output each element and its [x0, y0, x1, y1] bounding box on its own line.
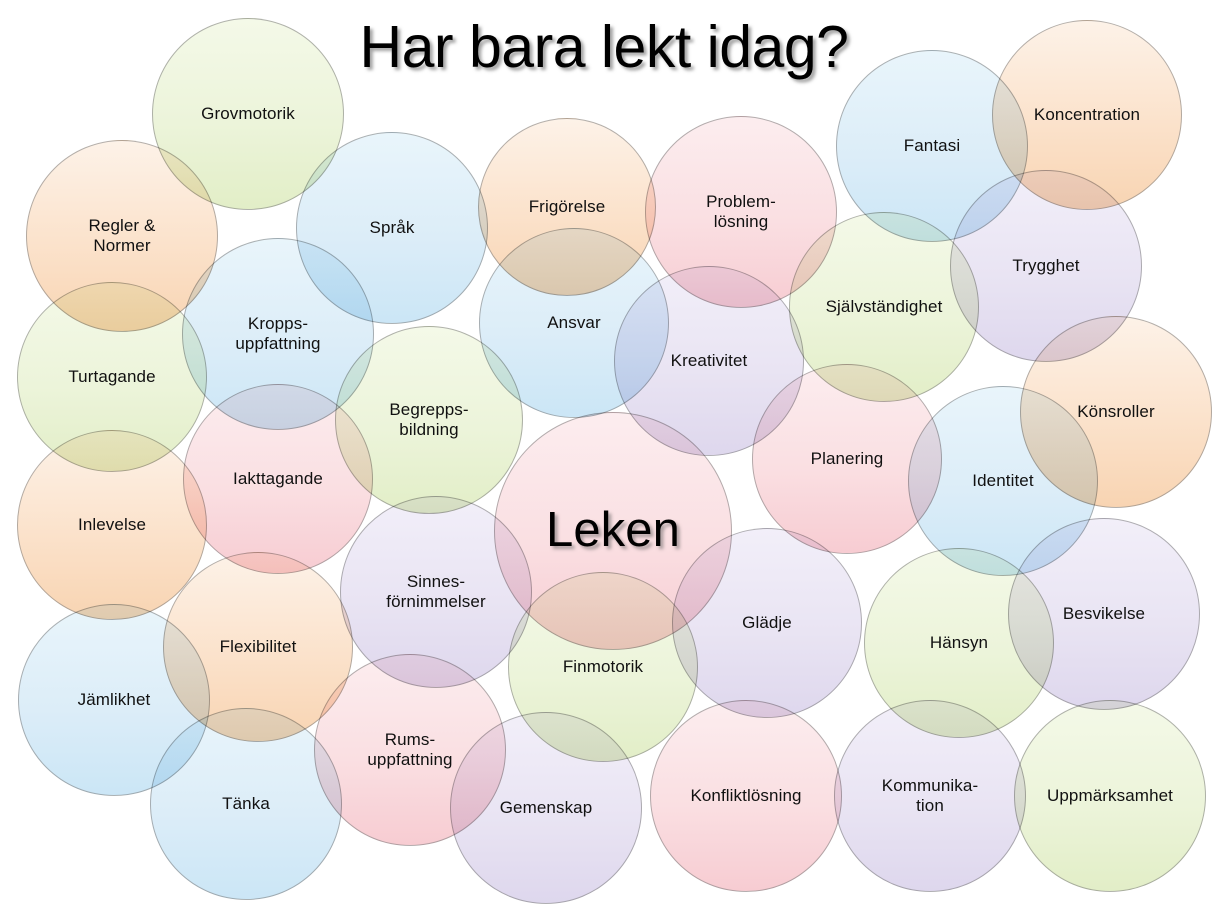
bubble-label: Inlevelse — [70, 515, 154, 535]
bubble-label: Könsroller — [1069, 402, 1163, 422]
bubble-label: Trygghet — [1004, 256, 1087, 276]
bubble-inlevelse[interactable]: Inlevelse — [17, 430, 207, 620]
bubble-label: Planering — [803, 449, 892, 469]
bubble-label: Leken — [538, 502, 688, 560]
bubble-label: Begrepps- bildning — [381, 400, 476, 440]
bubble-label: Rums- uppfattning — [359, 730, 460, 770]
bubble-label: Uppmärksamhet — [1039, 786, 1181, 806]
bubble-besvikelse[interactable]: Besvikelse — [1008, 518, 1200, 710]
bubble-label: Kropps- uppfattning — [227, 314, 328, 354]
bubble-label: Besvikelse — [1055, 604, 1153, 624]
bubble-label: Hänsyn — [922, 633, 996, 653]
bubble-label: Gemenskap — [492, 798, 601, 818]
bubble-kommunika-tion[interactable]: Kommunika- tion — [834, 700, 1026, 892]
bubble-label: Turtagande — [60, 367, 163, 387]
bubble-label: Språk — [362, 218, 423, 238]
center-bubble-leken[interactable]: Leken — [494, 412, 732, 650]
bubble-label: Fantasi — [896, 136, 968, 156]
bubble-label: Ansvar — [539, 313, 609, 333]
bubble-label: Sinnes- förnimmelser — [378, 572, 493, 612]
bubble-label: Grovmotorik — [193, 104, 303, 124]
bubble-label: Iakttagande — [225, 469, 331, 489]
bubble-label: Problem- lösning — [698, 192, 784, 232]
bubble-label: Tänka — [214, 794, 278, 814]
bubble-label: Koncentration — [1026, 105, 1148, 125]
bubble-label: Finmotorik — [555, 657, 651, 677]
bubble-konfliktlosning[interactable]: Konfliktlösning — [650, 700, 842, 892]
bubble-label: Regler & Normer — [81, 216, 164, 256]
bubble-label: Glädje — [734, 613, 800, 633]
bubble-uppmarksamhet[interactable]: Uppmärksamhet — [1014, 700, 1206, 892]
page-title-text: Har bara lekt idag? — [359, 18, 848, 77]
bubble-label: Frigörelse — [521, 197, 614, 217]
bubble-label: Kommunika- tion — [874, 776, 986, 816]
bubble-label: Kreativitet — [663, 351, 756, 371]
bubble-label: Konfliktlösning — [682, 786, 809, 806]
slide-canvas: GrovmotorikRegler & NormerSpråkFrigörels… — [0, 0, 1228, 914]
bubble-label: Identitet — [964, 471, 1041, 491]
bubble-label: Jämlikhet — [70, 690, 159, 710]
bubble-tanka[interactable]: Tänka — [150, 708, 342, 900]
bubble-iakttagande[interactable]: Iakttagande — [183, 384, 373, 574]
bubble-gemenskap[interactable]: Gemenskap — [450, 712, 642, 904]
bubble-label: Självständighet — [818, 297, 951, 317]
bubble-label: Flexibilitet — [212, 637, 305, 657]
